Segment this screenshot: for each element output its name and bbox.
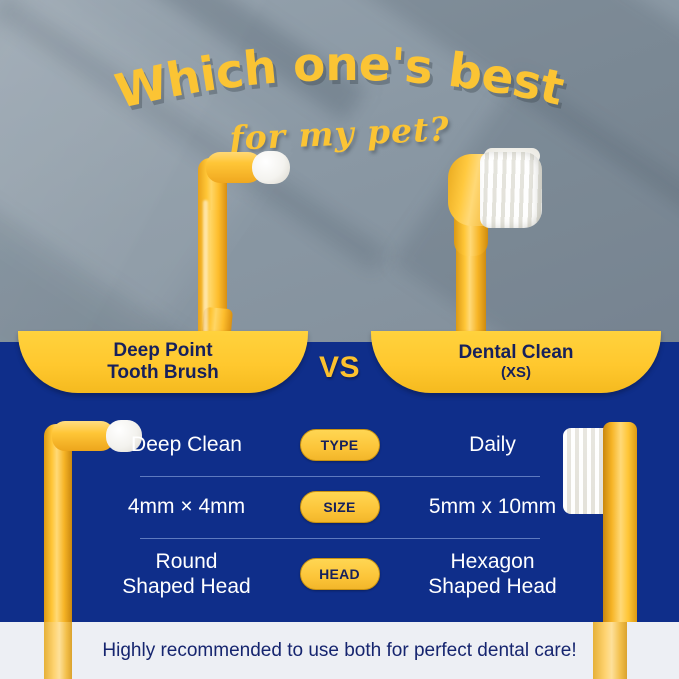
row-head-right-line2: Shaped Head: [428, 575, 556, 598]
row-head-right-value: Hexagon Shaped Head: [398, 549, 588, 599]
row-head-left-value: Round Shaped Head: [92, 549, 282, 599]
row-type-left-value: Deep Clean: [92, 432, 282, 457]
product-comparison-infographic: Which one's best Which one's best for my…: [0, 0, 679, 679]
hero-deep-point-brush: [168, 140, 288, 352]
row-head-left-line2: Shaped Head: [122, 575, 250, 598]
product-photo-background: [0, 0, 679, 352]
brush-round-tip: [252, 151, 290, 184]
comparison-row-size: 4mm × 4mm SIZE 5mm x 10mm: [0, 476, 679, 538]
row-head-left-line1: Round: [156, 550, 218, 573]
hero-dental-clean-brush: [440, 140, 570, 352]
row-divider: [140, 476, 540, 477]
row-size-left-value: 4mm × 4mm: [92, 494, 282, 519]
row-size-right-value: 5mm x 10mm: [398, 494, 588, 519]
brush-gloss-highlight: [203, 200, 208, 340]
comparison-row-head: Round Shaped Head HEAD Hexagon Shaped He…: [0, 538, 679, 610]
row-type-label: TYPE: [300, 429, 380, 461]
comparison-row-type: Deep Clean TYPE Daily: [0, 414, 679, 476]
footer-recommendation-text: Highly recommended to use both for perfe…: [102, 640, 576, 662]
row-type-right-value: Daily: [398, 432, 588, 457]
footer-brush-handle-left: [44, 622, 72, 679]
row-size-label: SIZE: [300, 491, 380, 523]
footer-brush-handle-right: [593, 622, 627, 679]
row-head-label: HEAD: [300, 558, 380, 590]
brush-bristles: [480, 152, 542, 228]
row-head-right-line1: Hexagon: [450, 550, 534, 573]
row-divider: [140, 538, 540, 539]
footer-band: Highly recommended to use both for perfe…: [0, 622, 679, 679]
comparison-rows: Deep Clean TYPE Daily 4mm × 4mm SIZE 5mm…: [0, 414, 679, 610]
versus-label: VS: [0, 351, 679, 385]
